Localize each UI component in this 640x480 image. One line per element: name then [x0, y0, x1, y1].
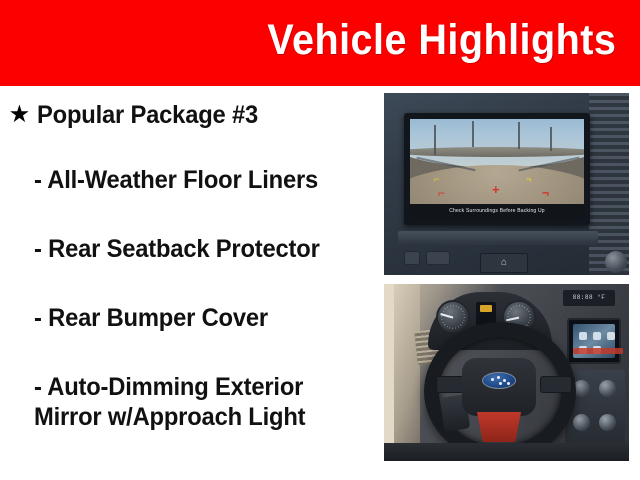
dash-button-defrost[interactable]	[426, 251, 450, 265]
badge-star-4	[507, 382, 510, 385]
fan-knob-right[interactable]	[599, 414, 616, 431]
rear-camera-screen: ⌐ ¬ ⌐ ¬ + Check Surroundings Before Back…	[410, 119, 584, 219]
photo-steering-wheel-dashboard: 88:88 °F	[384, 284, 629, 461]
app-icon-phone[interactable]	[579, 332, 587, 340]
dashboard-vent	[589, 93, 629, 275]
bumper-cover-label: - Rear Bumper Cover	[34, 303, 268, 333]
package-heading-label: Popular Package #3	[37, 100, 258, 130]
hvac-accent-strip	[573, 348, 623, 354]
photo-backup-camera-display: ⌐ ¬ ⌐ ¬ + Check Surroundings Before Back…	[384, 93, 629, 275]
camera-guide-red-right: ¬	[542, 189, 549, 198]
badge-star-1	[491, 378, 494, 381]
camera-warning-caption: Check Surroundings Before Backing Up	[410, 204, 584, 219]
door-pillar	[384, 284, 420, 461]
page-title: Vehicle Highlights	[267, 17, 616, 64]
camera-guide-yellow-left: ⌐	[434, 175, 439, 184]
badge-star-2	[497, 376, 500, 379]
badge-star-5	[499, 382, 502, 385]
camera-guide-yellow-right: ¬	[526, 175, 531, 184]
header-banner: Vehicle Highlights	[0, 0, 640, 86]
steering-control-right[interactable]	[540, 376, 572, 393]
floor-liners-label: - All-Weather Floor Liners	[34, 165, 318, 195]
list-item-package-heading: ★ Popular Package #3	[10, 100, 269, 130]
climate-knob-right[interactable]	[599, 380, 616, 397]
infotainment-screen[interactable]	[567, 318, 621, 364]
dash-button-hazard[interactable]	[404, 251, 420, 265]
list-item-floor-liners: - All-Weather Floor Liners	[34, 165, 333, 195]
camera-pole-midleft	[472, 121, 474, 147]
camera-pole-right	[550, 127, 552, 151]
list-item-seatback-protector: - Rear Seatback Protector	[34, 234, 335, 264]
footwell-shadow	[384, 443, 629, 461]
star-bullet-icon: ★	[10, 100, 29, 130]
home-button[interactable]: ⌂	[480, 253, 528, 273]
fan-knob-left[interactable]	[573, 414, 590, 431]
badge-star-3	[503, 379, 506, 382]
door-pillar-inner	[394, 284, 420, 461]
volume-knob[interactable]	[605, 251, 627, 273]
app-icon-navigation[interactable]	[607, 332, 615, 340]
list-item-bumper-cover: - Rear Bumper Cover	[34, 303, 280, 333]
overhead-readout: 88:88 °F	[563, 290, 615, 306]
camera-guide-red-left: ⌐	[438, 189, 445, 198]
subaru-logo-icon	[482, 372, 516, 389]
list-item-auto-dimming-mirror: - Auto-Dimming Exterior Mirror w/Approac…	[34, 372, 320, 432]
seatback-protector-label: - Rear Seatback Protector	[34, 234, 320, 264]
dashboard-lower-trim	[398, 231, 598, 245]
vehicle-highlights-list: ★ Popular Package #3 - All-Weather Floor…	[0, 86, 378, 480]
warning-indicator-icon	[480, 305, 492, 312]
camera-pole-midright	[518, 122, 520, 149]
camera-guide-center-cross: +	[492, 185, 500, 194]
app-icon-media[interactable]	[593, 332, 601, 340]
auto-dimming-mirror-label: - Auto-Dimming Exterior Mirror w/Approac…	[34, 372, 305, 432]
camera-sky-region	[410, 119, 584, 167]
camera-horizon-band	[410, 147, 584, 157]
camera-pole-left	[434, 125, 436, 155]
